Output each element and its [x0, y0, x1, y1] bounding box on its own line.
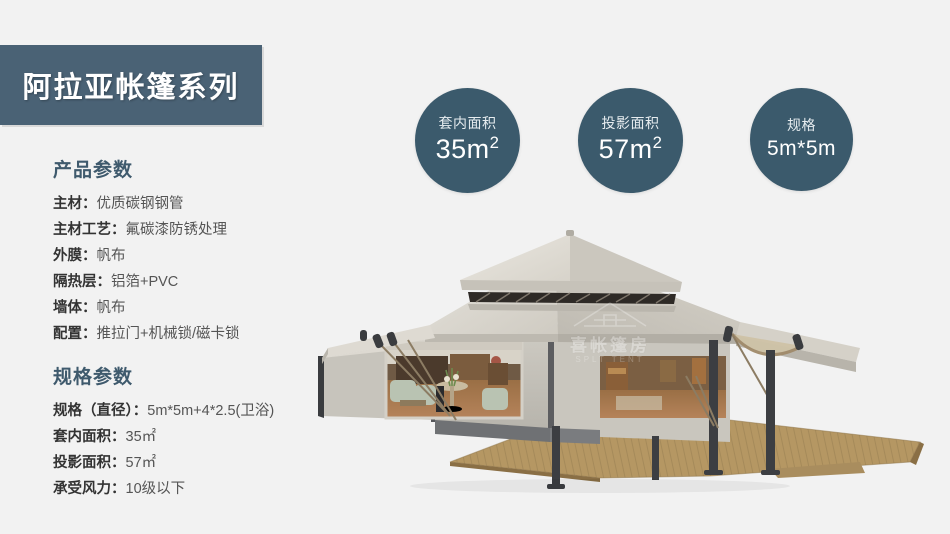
badge-specification: 规格 5m*5m: [750, 88, 853, 191]
spec-label: 配置：: [53, 326, 97, 342]
spec-row: 规格（直径）：5m*5m+4*2.5(卫浴): [53, 398, 274, 424]
spec-label: 套内面积：: [53, 429, 126, 445]
page-title: 阿拉亚帐篷系列: [22, 64, 239, 106]
size-parameters-section: 规格参数 规格（直径）：5m*5m+4*2.5(卫浴) 套内面积：35㎡ 投影面…: [53, 362, 274, 502]
slide-canvas: 阿拉亚帐篷系列 产品参数 主材：优质碳钢钢管 主材工艺：氟碳漆防锈处理 外膜：帆…: [0, 0, 950, 534]
size-parameters-heading: 规格参数: [53, 362, 274, 389]
spec-label: 隔热层：: [53, 274, 111, 290]
spec-value: 帆布: [97, 300, 126, 316]
spec-value: 帆布: [97, 248, 126, 264]
spec-label: 规格（直径）：: [53, 403, 147, 419]
title-banner: 阿拉亚帐篷系列: [0, 45, 262, 125]
badge-indoor-area: 套内面积 35m2: [415, 88, 520, 193]
spec-row: 外膜：帆布: [53, 243, 240, 269]
badge-projected-area: 投影面积 57m2: [578, 88, 683, 193]
spec-value: 优质碳钢钢管: [97, 196, 184, 212]
spec-value: 10级以下: [126, 481, 186, 497]
spec-label: 外膜：: [53, 248, 97, 264]
tent-interior: [386, 342, 522, 418]
spec-row: 主材工艺：氟碳漆防锈处理: [53, 217, 240, 243]
spec-value: 5m*5m+4*2.5(卫浴): [147, 403, 274, 419]
spec-label: 主材工艺：: [53, 222, 126, 238]
spec-row: 承受风力：10级以下: [53, 476, 274, 502]
spec-value: 35㎡: [126, 429, 157, 445]
spec-row: 投影面积：57㎡: [53, 450, 274, 476]
spec-row: 主材：优质碳钢钢管: [53, 191, 240, 217]
badge-value: 5m*5m: [767, 137, 836, 161]
spec-label: 投影面积：: [53, 455, 126, 471]
spec-row: 配置：推拉门+机械锁/磁卡锁: [53, 321, 240, 347]
spec-row: 隔热层：铝箔+PVC: [53, 269, 240, 295]
spec-row: 套内面积：35㎡: [53, 424, 274, 450]
ground-shadow: [410, 479, 790, 493]
product-parameters-heading: 产品参数: [53, 155, 240, 182]
badge-value: 57m2: [599, 133, 663, 165]
tent-upper-roof: [460, 230, 682, 312]
spec-label: 墙体：: [53, 300, 97, 316]
spec-value: 推拉门+机械锁/磁卡锁: [97, 326, 240, 342]
spec-value: 氟碳漆防锈处理: [126, 222, 228, 238]
product-parameters-section: 产品参数 主材：优质碳钢钢管 主材工艺：氟碳漆防锈处理 外膜：帆布 隔热层：铝箔…: [53, 155, 240, 347]
tent-illustration: [300, 230, 950, 505]
badge-value: 35m2: [436, 133, 500, 165]
badge-label: 规格: [787, 118, 816, 133]
spec-label: 主材：: [53, 196, 97, 212]
tent-interior-right: [600, 356, 726, 418]
badge-label: 套内面积: [439, 116, 497, 131]
badge-label: 投影面积: [602, 116, 660, 131]
spec-value: 铝箔+PVC: [111, 274, 178, 290]
spec-row: 墙体：帆布: [53, 295, 240, 321]
spec-value: 57㎡: [126, 455, 157, 471]
spec-label: 承受风力：: [53, 481, 126, 497]
